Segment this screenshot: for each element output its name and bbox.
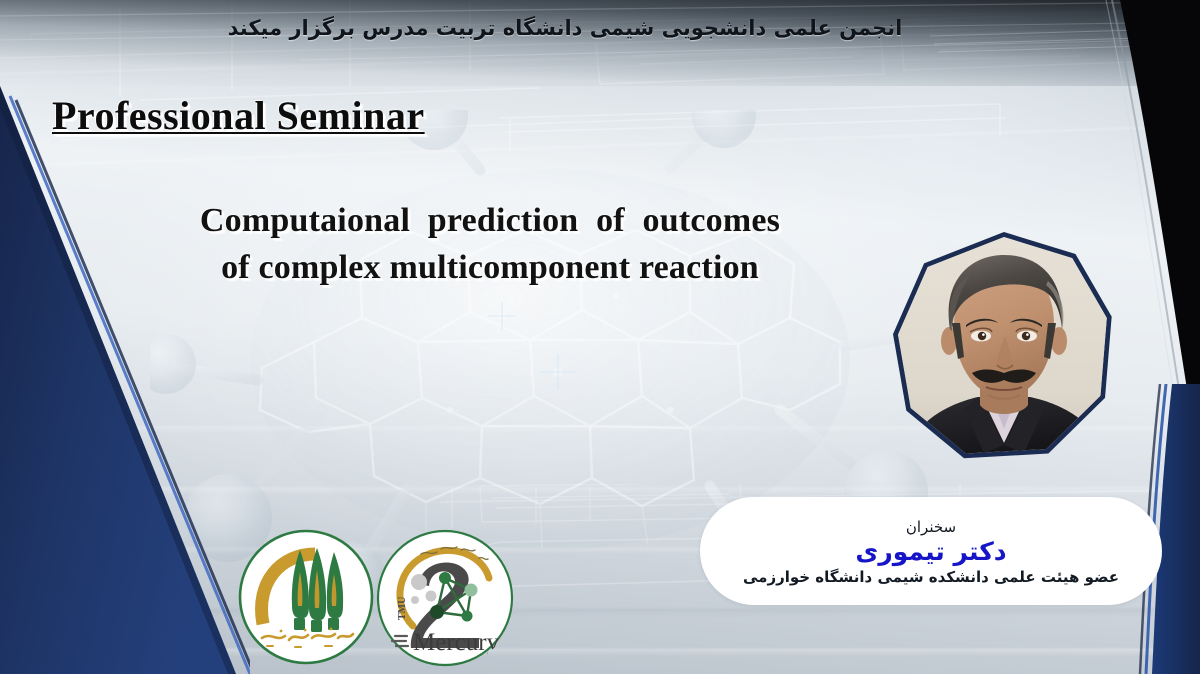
speaker-portrait <box>893 232 1115 464</box>
page-title: Computaional prediction of outcomes of c… <box>120 198 860 292</box>
tarbiat-modares-university-logo <box>237 528 375 666</box>
tmu-logo-icon <box>237 528 375 666</box>
speaker-label: سخنران <box>906 519 956 536</box>
mercury-logo-icon: TMU Mercury <box>375 528 515 668</box>
organizer-header-text: انجمن علمی دانشجویی شیمی دانشگاه تربیت م… <box>0 16 1130 40</box>
mercury-logo-acronym: TMU <box>397 597 408 620</box>
title-line-1: Computaional prediction of outcomes <box>120 198 860 245</box>
seminar-kicker: Professional Seminar <box>52 92 425 139</box>
speaker-info-card: سخنران دکتر تیموری عضو هیئت علمی دانشکده… <box>700 497 1162 605</box>
speaker-name: دکتر تیموری <box>855 537 1006 567</box>
title-line-2: of complex multicomponent reaction <box>120 245 860 292</box>
seminar-poster: انجمن علمی دانشجویی شیمی دانشگاه تربیت م… <box>0 0 1200 674</box>
mercury-wordmark: Mercury <box>413 629 500 656</box>
mercury-scientific-association-logo: TMU Mercury <box>375 528 515 668</box>
speaker-affiliation: عضو هیئت علمی دانشکده شیمی دانشگاه خوارز… <box>743 568 1119 586</box>
